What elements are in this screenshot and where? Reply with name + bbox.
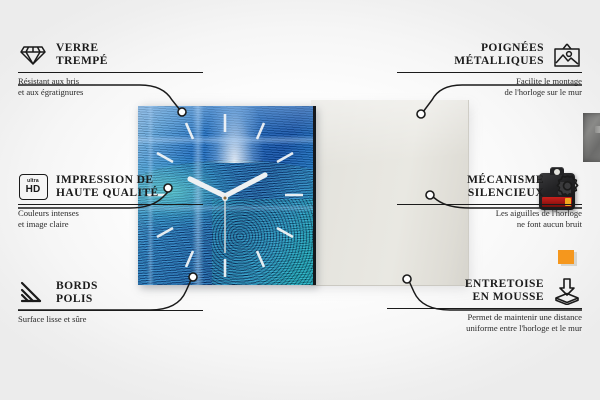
callout-poignees-metalliques: POIGNÉES MÉTALLIQUES Facilite le montage… (397, 40, 582, 98)
polished-edges-icon (18, 278, 48, 308)
hanger-slot (595, 126, 600, 133)
callout-entretoise-en-mousse: ENTRETOISE EN MOUSSE Permet de maintenir… (387, 276, 582, 334)
picture-frame-hanging-icon (552, 40, 582, 70)
callout-bords-polis: BORDS POLIS Surface lisse et sûre (18, 278, 203, 325)
callout-title: VERRE TREMPÉ (56, 42, 108, 69)
callout-title: MÉCANISME SILENCIEUX (467, 174, 544, 201)
callout-title: ENTRETOISE EN MOUSSE (465, 278, 544, 305)
callout-title: BORDS POLIS (56, 280, 98, 307)
callout-title: POIGNÉES MÉTALLIQUES (454, 42, 544, 69)
arrow-down-pad-icon (552, 276, 582, 306)
callout-header: ultra HD IMPRESSION DE HAUTE QUALITÉ (18, 172, 203, 202)
callout-divider (397, 204, 582, 205)
metal-hanger-part (583, 113, 600, 162)
callout-mecanisme-silencieux: MÉCANISME SILENCIEUX Les aiguilles de l'… (397, 172, 582, 230)
foam-spacer-part (558, 250, 574, 264)
callout-divider (18, 72, 203, 73)
callout-subtitle: Surface lisse et sûre (18, 314, 203, 325)
callout-divider (387, 308, 582, 309)
hd-badge-main-label: HD (26, 185, 41, 195)
callout-subtitle: Les aiguilles de l'horloge ne font aucun… (397, 208, 582, 230)
ultra-hd-icon: ultra HD (18, 172, 48, 202)
callout-divider (397, 72, 582, 73)
callout-divider (18, 310, 203, 311)
callout-divider (18, 204, 203, 205)
callout-verre-trempe: VERRE TREMPÉ Résistant aux bris et aux é… (18, 40, 203, 98)
callout-subtitle: Facilite le montage de l'horloge sur le … (397, 76, 582, 98)
hd-badge: ultra HD (19, 174, 48, 200)
callout-header: MÉCANISME SILENCIEUX (397, 172, 582, 202)
callout-subtitle: Couleurs intenses et image claire (18, 208, 203, 230)
callout-header: BORDS POLIS (18, 278, 203, 308)
infographic-canvas: VERRE TREMPÉ Résistant aux bris et aux é… (0, 0, 600, 400)
callout-title: IMPRESSION DE HAUTE QUALITÉ (56, 174, 159, 201)
gear-icon (552, 172, 582, 202)
callout-header: ENTRETOISE EN MOUSSE (387, 276, 582, 306)
callout-header: VERRE TREMPÉ (18, 40, 203, 70)
callout-subtitle: Permet de maintenir une distance uniform… (387, 312, 582, 334)
diamond-icon (18, 40, 48, 70)
callout-header: POIGNÉES MÉTALLIQUES (397, 40, 582, 70)
callout-impression-haute-qualite: ultra HD IMPRESSION DE HAUTE QUALITÉ Cou… (18, 172, 203, 230)
callout-subtitle: Résistant aux bris et aux égratignures (18, 76, 203, 98)
